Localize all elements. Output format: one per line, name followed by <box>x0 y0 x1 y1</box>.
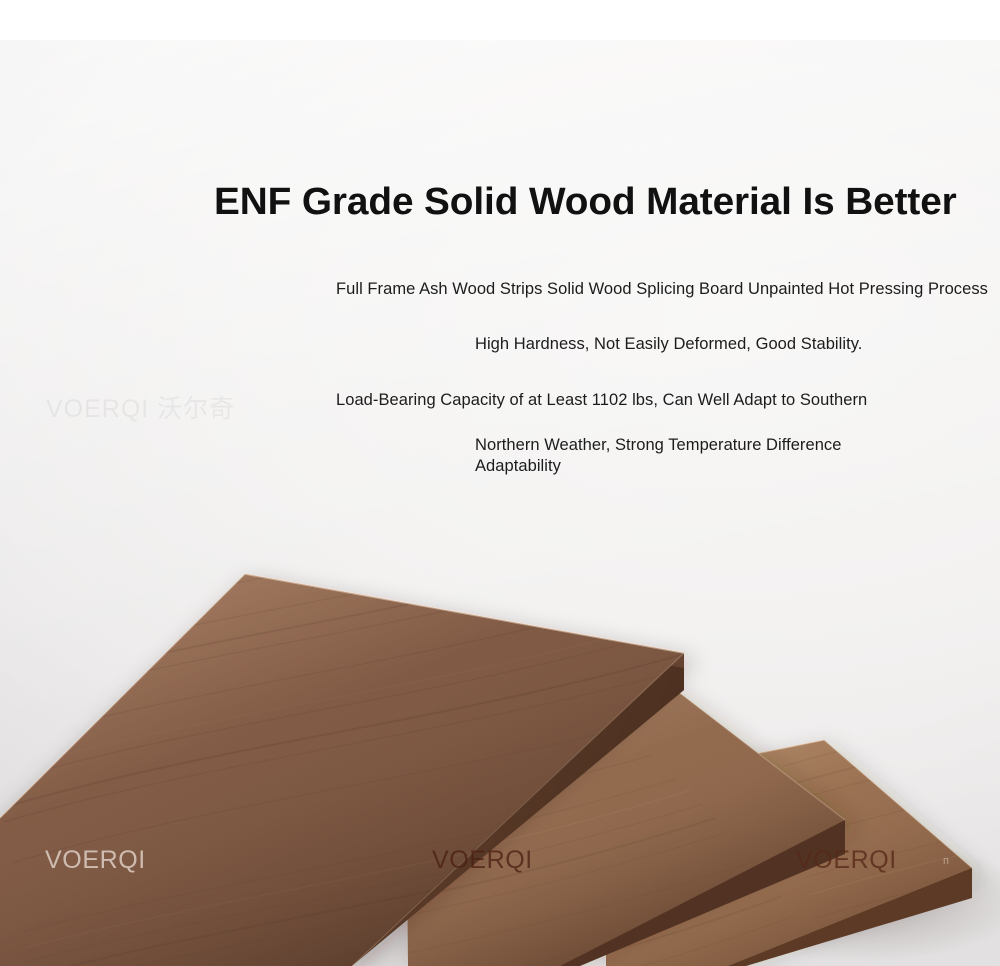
front-board-watermark: VOERQI <box>45 846 146 875</box>
feature-line-3: Load-Bearing Capacity of at Least 1102 l… <box>336 390 867 411</box>
back-board-watermark: VOERQI <box>796 846 897 875</box>
feature-line-2: High Hardness, Not Easily Deformed, Good… <box>475 334 862 355</box>
feature-line-4: Northern Weather, Strong Temperature Dif… <box>475 435 905 477</box>
middle-board-watermark: VOERQI <box>432 846 533 875</box>
top-white-band <box>0 0 1000 40</box>
feature-line-1: Full Frame Ash Wood Strips Solid Wood Sp… <box>336 279 988 300</box>
corner-watermark: п <box>943 855 949 867</box>
product-poster: VOERQI 沃尔奇 <box>0 0 1000 966</box>
wood-boards-illustration <box>0 0 1000 966</box>
page-title: ENF Grade Solid Wood Material Is Better <box>214 181 999 223</box>
